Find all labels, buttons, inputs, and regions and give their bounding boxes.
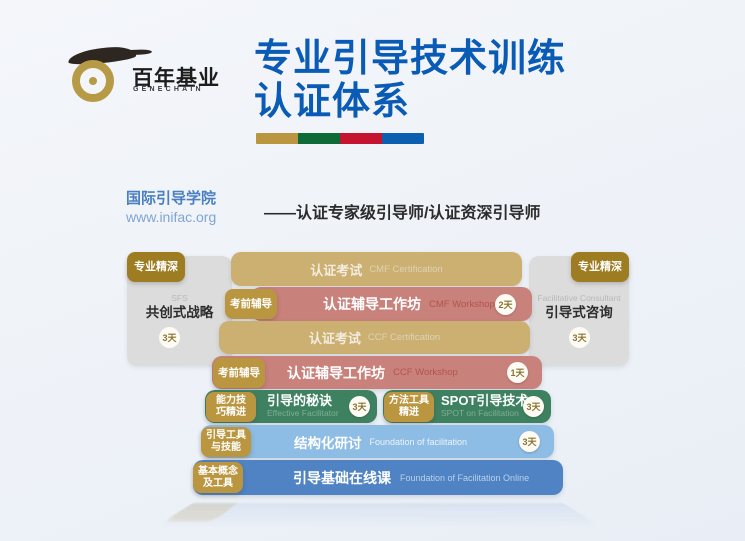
row-ccf-workshop-days: 1天 — [507, 362, 528, 383]
row-cmf-workshop-days: 2天 — [495, 294, 516, 315]
slide-canvas: 百年基业 GENECHAIN 专业引导技术训练 认证体系 国际引导学院 www.… — [0, 0, 745, 541]
row-spot-on-facilitation-cn: SPOT引导技术 — [441, 394, 528, 408]
row-ccf-workshop-tag[interactable]: 考前辅导 — [213, 358, 265, 388]
row-foundation-of-facilitation-tag[interactable]: 引导工具与技能 — [201, 427, 251, 457]
row-foundation-of-facilitation-online-en: Foundation of Facilitation Online — [400, 473, 529, 483]
row-ccf-certification-cn: 认证考试 — [309, 328, 361, 347]
left-panel-badge[interactable]: 专业精深 — [127, 252, 185, 282]
row-cmf-certification-en: CMF Certification — [369, 264, 442, 275]
right-panel-caption-cn: 引导式咨询 — [529, 304, 629, 322]
row-foundation-of-facilitation-online-cn: 引导基础在线课 — [293, 468, 391, 488]
row-effective-facilitator-tag[interactable]: 能力技巧精进 — [206, 392, 256, 422]
row-foundation-of-facilitation[interactable]: 结构化研讨 Foundation of facilitation — [201, 425, 554, 458]
row-cmf-certification[interactable]: 认证考试 CMF Certification — [231, 252, 522, 286]
left-panel-caption-cn: 共创式战略 — [127, 304, 232, 322]
row-foundation-of-facilitation-online-tag[interactable]: 基本概念及工具 — [193, 462, 243, 493]
row-spot-on-facilitation-days: 3天 — [523, 396, 544, 417]
row-foundation-of-facilitation-cn: 结构化研讨 — [294, 432, 362, 452]
row-ccf-workshop-en: CCF Workshop — [393, 367, 458, 378]
row-cmf-workshop-cn: 认证辅导工作坊 — [323, 294, 421, 314]
right-panel-badge[interactable]: 专业精深 — [571, 252, 629, 282]
reflection-decoration — [153, 503, 603, 528]
row-spot-on-facilitation-tag[interactable]: 方法工具精进 — [384, 392, 434, 422]
left-panel-caption-en: SFS — [127, 292, 232, 304]
certification-pathway-diagram: 专业精深 SFS 共创式战略 3天 专业精深 Facilitative Cons… — [0, 0, 745, 541]
row-foundation-of-facilitation-days: 3天 — [519, 431, 540, 452]
row-effective-facilitator-en: Effective Facilitator — [267, 408, 339, 419]
row-cmf-workshop-en: CMF Workshop — [429, 299, 495, 310]
row-foundation-of-facilitation-en: Foundation of facilitation — [370, 437, 468, 447]
row-ccf-certification-en: CCF Certification — [368, 332, 440, 343]
row-cmf-workshop-tag[interactable]: 考前辅导 — [225, 289, 277, 319]
row-foundation-of-facilitation-online[interactable]: 引导基础在线课 Foundation of Facilitation Onlin… — [193, 460, 563, 495]
row-effective-facilitator-cn: 引导的秘诀 — [267, 394, 339, 408]
row-ccf-workshop-cn: 认证辅导工作坊 — [287, 363, 385, 383]
row-cmf-workshop[interactable]: 认证辅导工作坊 CMF Workshop — [251, 287, 532, 321]
right-panel-caption-en: Facilitative Consultant — [529, 292, 629, 304]
left-panel-days-badge: 3天 — [159, 327, 180, 348]
right-panel-caption: Facilitative Consultant 引导式咨询 — [529, 292, 629, 322]
row-effective-facilitator-days: 3天 — [349, 396, 370, 417]
row-cmf-certification-cn: 认证考试 — [310, 260, 362, 279]
right-panel-days-badge: 3天 — [569, 327, 590, 348]
row-ccf-certification[interactable]: 认证考试 CCF Certification — [219, 321, 530, 354]
left-panel-caption: SFS 共创式战略 — [127, 292, 232, 322]
row-spot-on-facilitation-en: SPOT on Facilitation — [441, 408, 528, 419]
reflection-tag-decoration — [164, 503, 237, 521]
